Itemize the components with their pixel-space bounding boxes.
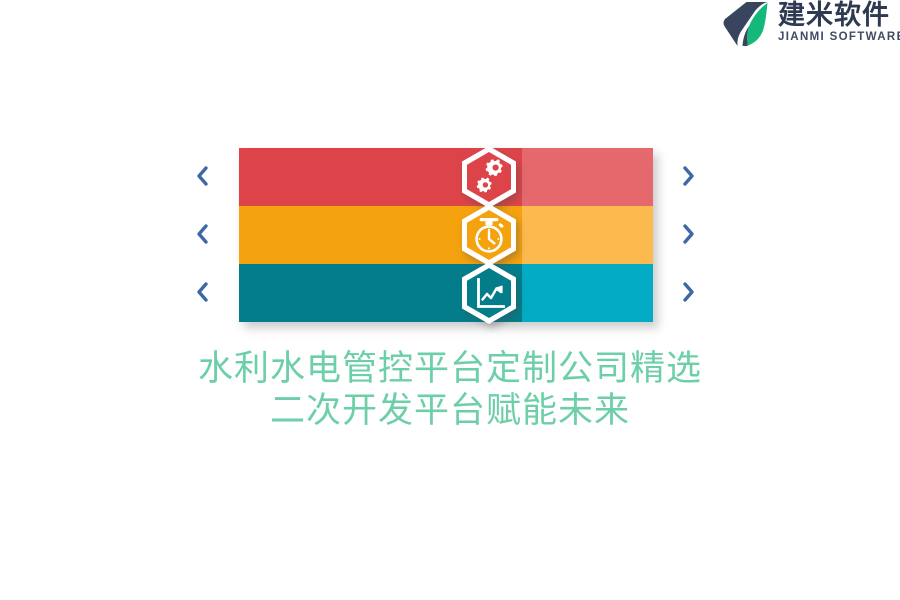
band-right-fill (522, 148, 653, 206)
brand-name-cn: 建米软件 (778, 1, 900, 30)
infographic-banner (190, 140, 705, 335)
chevron-right-icon[interactable] (675, 163, 701, 189)
stopwatch-icon[interactable] (457, 203, 521, 267)
band-row-analytics[interactable] (239, 264, 653, 322)
chevron-left-icon[interactable] (190, 163, 216, 189)
band-row-process[interactable] (239, 148, 653, 206)
line-chart-growth-icon[interactable] (457, 261, 521, 325)
brand-name-en: JIANMI SOFTWARE (778, 31, 900, 44)
chevron-left-icon[interactable] (190, 279, 216, 305)
chevron-right-icon[interactable] (675, 279, 701, 305)
chevron-right-icon[interactable] (675, 221, 701, 247)
gears-icon[interactable] (457, 145, 521, 209)
brand-text-block: 建米软件 JIANMI SOFTWARE (778, 0, 900, 44)
band-stack (239, 148, 653, 322)
band-right-fill (522, 206, 653, 264)
chevron-left-icon[interactable] (190, 221, 216, 247)
jianmi-hexagon-leaf-logo-icon (722, 0, 774, 48)
band-row-efficiency[interactable] (239, 206, 653, 264)
page-title-line-2: 二次开发平台赋能未来 (0, 390, 900, 432)
page-title: 水利水电管控平台定制公司精选 二次开发平台赋能未来 (0, 348, 900, 432)
brand-logo: 建米软件 JIANMI SOFTWARE (722, 0, 900, 50)
page-title-line-1: 水利水电管控平台定制公司精选 (0, 348, 900, 390)
band-right-fill (522, 264, 653, 322)
